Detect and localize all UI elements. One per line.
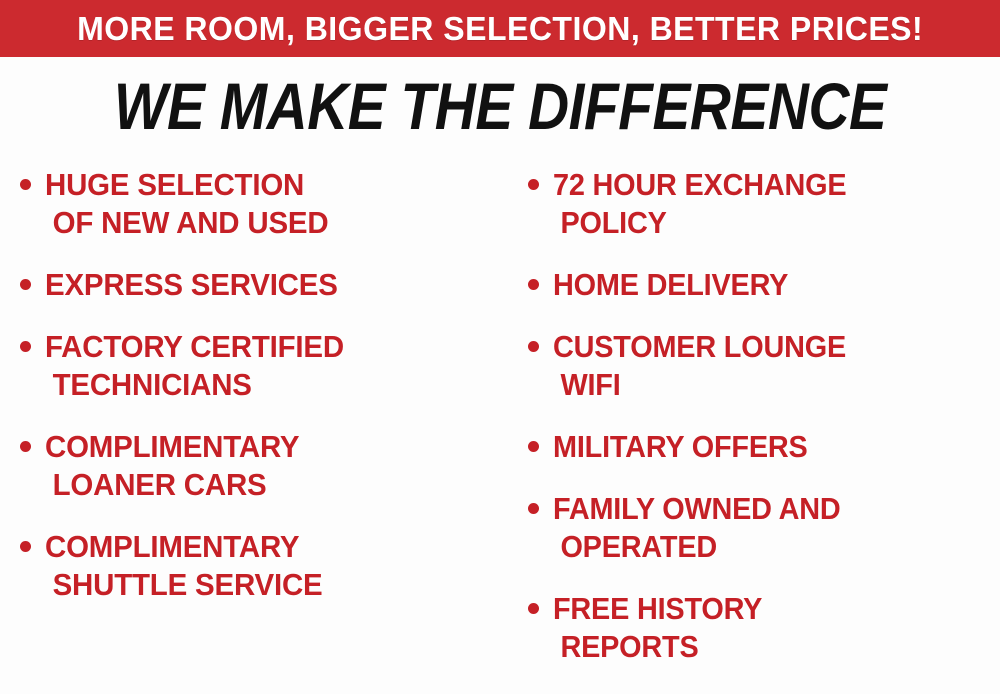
feature-bullet-line: REPORTS <box>553 628 969 666</box>
bullet-dot-icon <box>528 603 539 614</box>
bullet-dot-icon <box>528 341 539 352</box>
feature-bullet-item: FACTORY CERTIFIEDTECHNICIANS <box>20 328 505 404</box>
bullet-dot-icon <box>20 541 31 552</box>
feature-bullet-text: HOME DELIVERY <box>553 266 1000 304</box>
feature-bullet-line: 72 HOUR EXCHANGE <box>553 166 969 204</box>
feature-bullet-text: FREE HISTORYREPORTS <box>553 590 1000 666</box>
feature-bullet-line: OF NEW AND USED <box>45 204 482 242</box>
feature-bullet-item: HOME DELIVERY <box>528 266 1000 304</box>
bullet-dot-icon <box>20 279 31 290</box>
bullet-dot-icon <box>528 503 539 514</box>
feature-bullet-item: FREE HISTORYREPORTS <box>528 590 1000 666</box>
feature-bullet-text: FACTORY CERTIFIEDTECHNICIANS <box>45 328 505 404</box>
bullet-dot-icon <box>20 179 31 190</box>
feature-bullet-text: MILITARY OFFERS <box>553 428 1000 466</box>
feature-bullet-line: OPERATED <box>553 528 969 566</box>
feature-bullet-text: EXPRESS SERVICES <box>45 266 505 304</box>
feature-bullet-line: SHUTTLE SERVICE <box>45 566 482 604</box>
feature-bullet-text: FAMILY OWNED ANDOPERATED <box>553 490 1000 566</box>
feature-bullet-text: 72 HOUR EXCHANGEPOLICY <box>553 166 1000 242</box>
feature-bullet-line: WIFI <box>553 366 969 404</box>
feature-bullet-line: FREE HISTORY <box>553 590 969 628</box>
feature-bullet-line: COMPLIMENTARY <box>45 428 482 466</box>
top-banner: MORE ROOM, BIGGER SELECTION, BETTER PRIC… <box>0 0 1000 57</box>
feature-bullet-line: COMPLIMENTARY <box>45 528 482 566</box>
feature-bullet-item: EXPRESS SERVICES <box>20 266 505 304</box>
promotional-poster: MORE ROOM, BIGGER SELECTION, BETTER PRIC… <box>0 0 1000 694</box>
feature-bullet-line: HOME DELIVERY <box>553 266 969 304</box>
banner-headline-text: MORE ROOM, BIGGER SELECTION, BETTER PRIC… <box>77 12 923 45</box>
bullet-dot-icon <box>528 279 539 290</box>
feature-bullet-line: HUGE SELECTION <box>45 166 482 204</box>
bullet-dot-icon <box>528 441 539 452</box>
features-columns: HUGE SELECTIONOF NEW AND USEDEXPRESS SER… <box>0 160 1000 694</box>
feature-bullet-item: 72 HOUR EXCHANGEPOLICY <box>528 166 1000 242</box>
feature-bullet-item: HUGE SELECTIONOF NEW AND USED <box>20 166 505 242</box>
feature-bullet-line: CUSTOMER LOUNGE <box>553 328 969 366</box>
main-headline-container: WE MAKE THE DIFFERENCE <box>0 62 1000 150</box>
bullet-dot-icon <box>20 441 31 452</box>
feature-bullet-line: LOANER CARS <box>45 466 482 504</box>
feature-bullet-line: FACTORY CERTIFIED <box>45 328 482 366</box>
bullet-dot-icon <box>528 179 539 190</box>
features-column-right: 72 HOUR EXCHANGEPOLICYHOME DELIVERYCUSTO… <box>505 160 1000 690</box>
features-column-left: HUGE SELECTIONOF NEW AND USEDEXPRESS SER… <box>0 160 505 628</box>
bullet-dot-icon <box>20 341 31 352</box>
feature-bullet-line: EXPRESS SERVICES <box>45 266 482 304</box>
feature-bullet-text: COMPLIMENTARYLOANER CARS <box>45 428 505 504</box>
feature-bullet-line: TECHNICIANS <box>45 366 482 404</box>
feature-bullet-line: MILITARY OFFERS <box>553 428 969 466</box>
feature-bullet-item: MILITARY OFFERS <box>528 428 1000 466</box>
main-headline: WE MAKE THE DIFFERENCE <box>114 73 887 139</box>
feature-bullet-text: COMPLIMENTARYSHUTTLE SERVICE <box>45 528 505 604</box>
feature-bullet-line: POLICY <box>553 204 969 242</box>
feature-bullet-item: FAMILY OWNED ANDOPERATED <box>528 490 1000 566</box>
feature-bullet-text: HUGE SELECTIONOF NEW AND USED <box>45 166 505 242</box>
feature-bullet-item: COMPLIMENTARYLOANER CARS <box>20 428 505 504</box>
feature-bullet-item: COMPLIMENTARYSHUTTLE SERVICE <box>20 528 505 604</box>
feature-bullet-item: CUSTOMER LOUNGEWIFI <box>528 328 1000 404</box>
feature-bullet-line: FAMILY OWNED AND <box>553 490 969 528</box>
feature-bullet-text: CUSTOMER LOUNGEWIFI <box>553 328 1000 404</box>
